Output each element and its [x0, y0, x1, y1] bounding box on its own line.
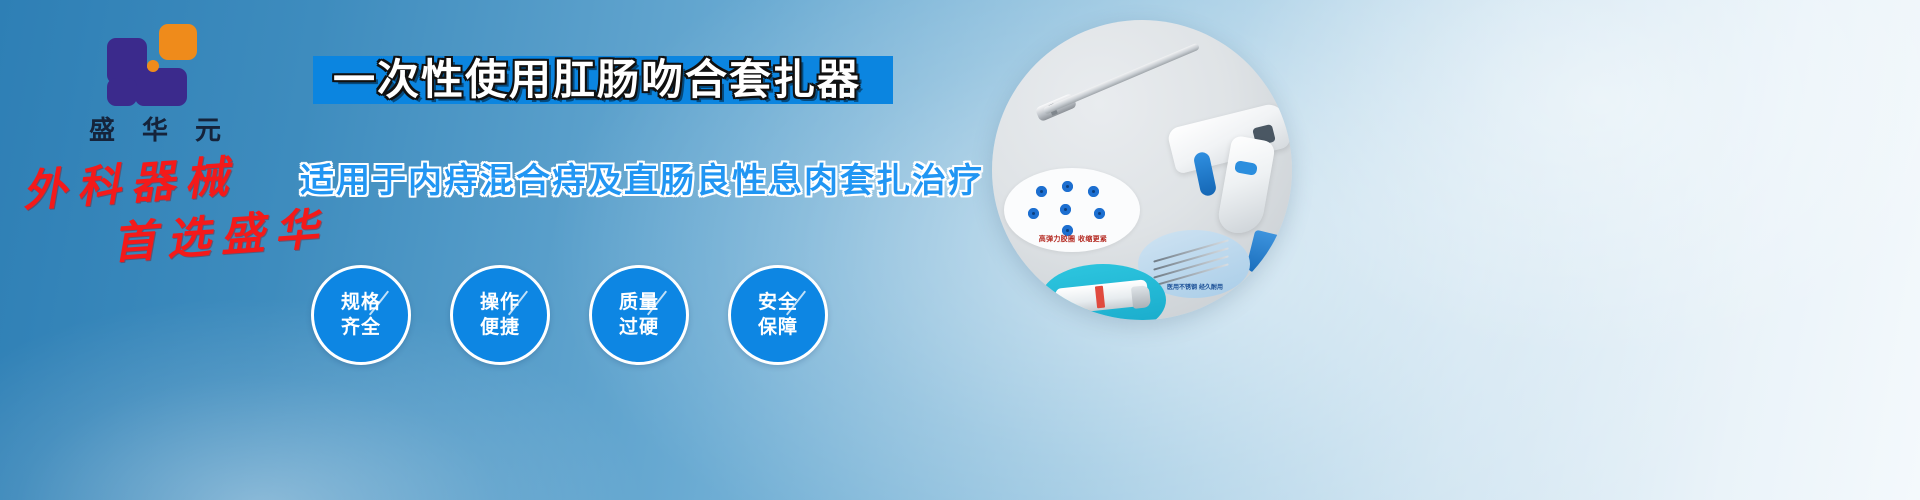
device-nozzle: [1245, 229, 1280, 276]
calligraphy-line-2: 首选盛华: [110, 193, 330, 272]
calligraphy-line-1: 外科器械: [20, 141, 240, 220]
feature-line-2: 便捷: [480, 315, 520, 340]
feature-line-1: 操作: [480, 290, 520, 315]
inset-rings-caption: 高弹力胶圈 收缩更紧: [1012, 234, 1134, 244]
feature-line-2: 保障: [758, 315, 798, 340]
feature-line-1: 规格: [341, 290, 381, 315]
background-glow-top-right: [1220, 0, 1920, 360]
feature-circle-operation[interactable]: 操作 便捷: [450, 265, 550, 365]
feature-line-1: 质量: [619, 290, 659, 315]
brand-logo[interactable]: 盛 华 元: [60, 24, 250, 147]
shenghuayuan-blocks-logo-icon: [107, 24, 203, 106]
product-photo: 高弹力胶圈 收缩更紧 医用不锈钢 经久耐用: [992, 20, 1292, 320]
feature-line-2: 齐全: [341, 315, 381, 340]
feature-circle-safety[interactable]: 安全 保障: [728, 265, 828, 365]
device-shaft: [1043, 43, 1200, 115]
feature-line-1: 安全: [758, 290, 798, 315]
brand-name: 盛 华 元: [60, 110, 250, 147]
promo-banner: 盛 华 元 外科器械 首选盛华 一次性使用肛肠吻合套扎器 适用于内痔混合痔及直肠…: [0, 0, 1920, 500]
cartridge-cap: [1131, 285, 1151, 309]
feature-circle-specs[interactable]: 规格 齐全: [311, 265, 411, 365]
feature-line-2: 过硬: [619, 315, 659, 340]
page-title: 一次性使用肛肠吻合套扎器: [333, 52, 861, 108]
feature-circle-quality[interactable]: 质量 过硬: [589, 265, 689, 365]
subtitle: 适用于内痔混合痔及直肠良性息肉套扎治疗: [300, 158, 984, 204]
